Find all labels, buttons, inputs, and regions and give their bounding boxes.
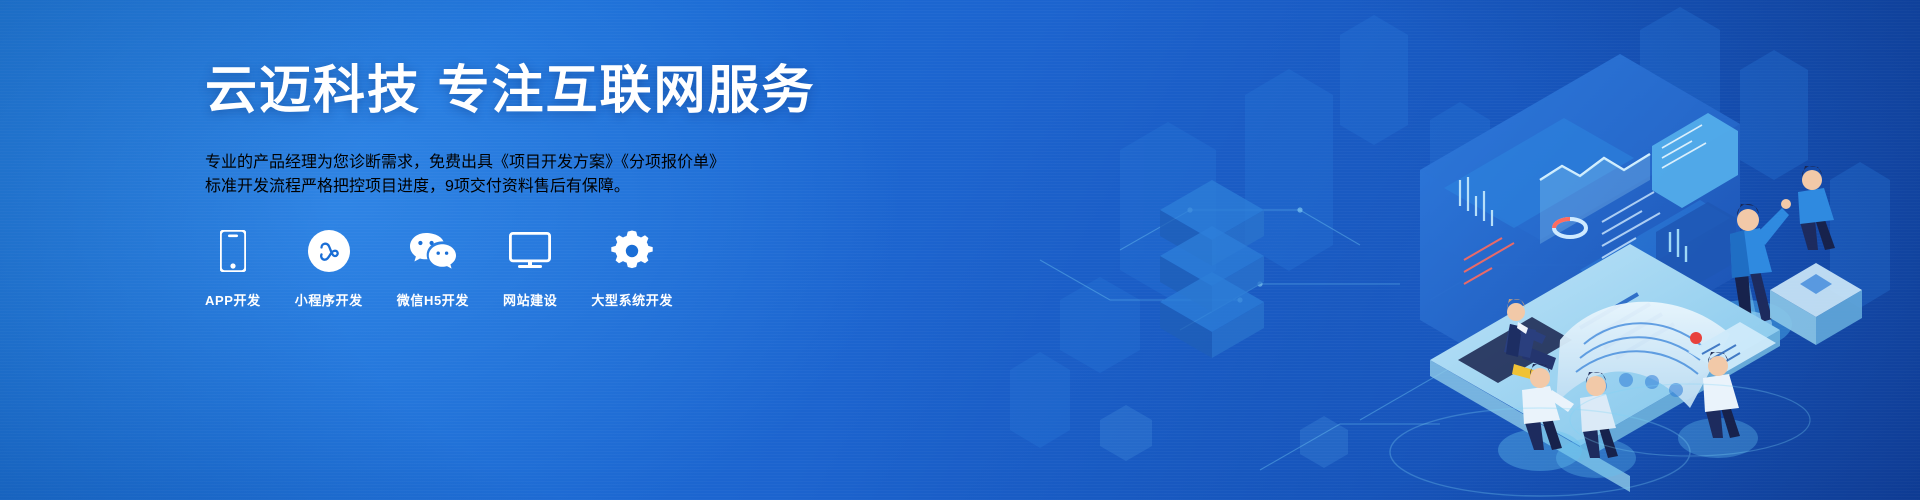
service-item-mini-program[interactable]: 小程序开发 — [295, 228, 363, 309]
monitor-icon — [509, 228, 551, 274]
service-item-app[interactable]: APP开发 — [205, 228, 261, 309]
service-item-website[interactable]: 网站建设 — [503, 228, 557, 309]
page-title: 云迈科技 专注互联网服务 — [205, 62, 965, 122]
service-label: 小程序开发 — [295, 290, 363, 309]
banner-copy: 云迈科技 专注互联网服务 专业的产品经理为您诊断需求，免费出具《项目开发方案》《… — [205, 62, 965, 212]
service-item-wechat-h5[interactable]: 微信H5开发 — [397, 228, 469, 309]
service-label: 网站建设 — [503, 290, 557, 309]
subtitle-line-2: 标准开发流程严格把控项目进度，9项交付资料售后有保障。 — [205, 172, 965, 196]
service-list: APP开发 小程序开发 微信 — [205, 228, 673, 309]
service-item-large-system[interactable]: 大型系统开发 — [591, 228, 673, 309]
service-label: 大型系统开发 — [591, 290, 673, 309]
service-label: 微信H5开发 — [397, 290, 469, 309]
wechat-icon — [409, 228, 457, 274]
mini-program-icon — [308, 228, 350, 274]
hero-banner: 云迈科技 专注互联网服务 专业的产品经理为您诊断需求，免费出具《项目开发方案》《… — [0, 0, 1920, 500]
illustration-isometric-dashboard — [1000, 0, 1920, 500]
gear-icon — [611, 228, 653, 274]
subtitle-line-1: 专业的产品经理为您诊断需求，免费出具《项目开发方案》《分项报价单》 — [205, 148, 965, 172]
service-label: APP开发 — [205, 290, 261, 309]
mobile-phone-icon — [220, 228, 246, 274]
